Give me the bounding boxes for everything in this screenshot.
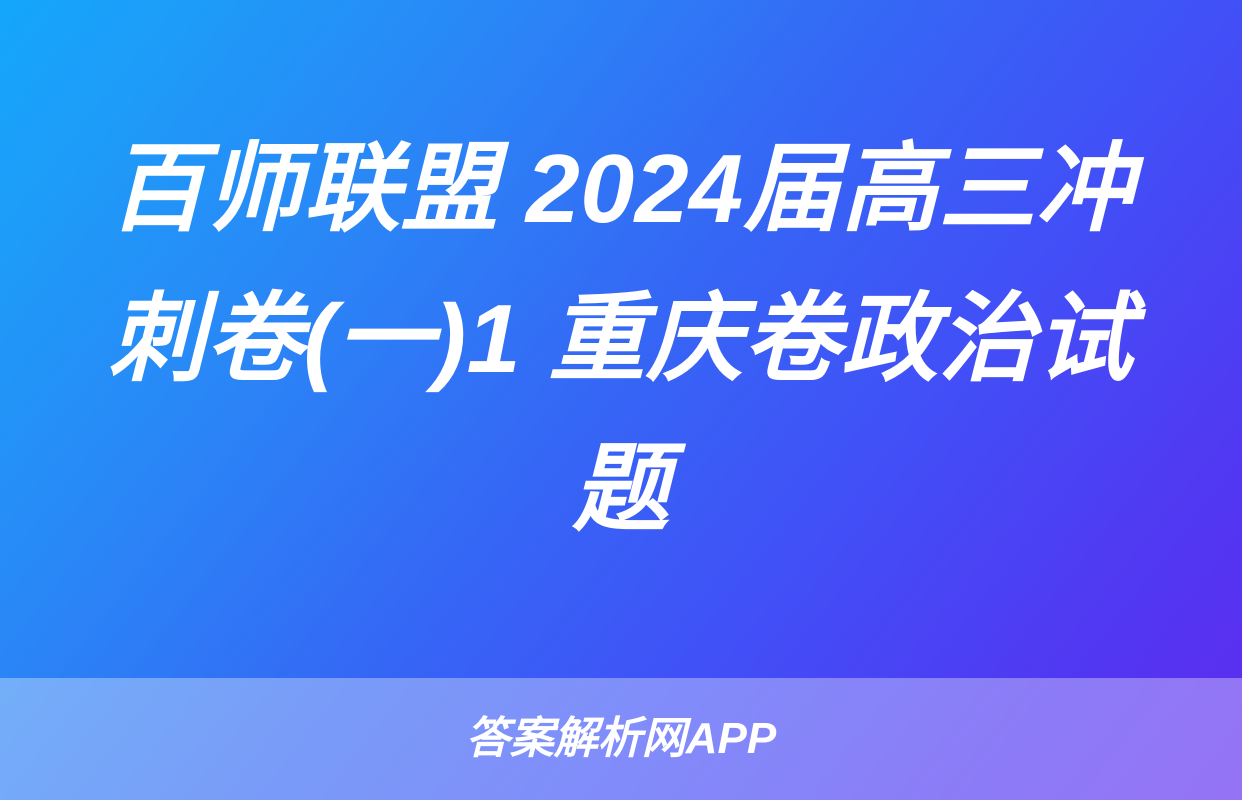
watermark-banner: 答案解析网APP xyxy=(0,678,1242,800)
title-area: 百师联盟 2024届高三冲刺卷(一)1 重庆卷政治试题 xyxy=(0,0,1242,678)
watermark-brand-label: 答案解析网APP xyxy=(466,717,776,761)
document-cover-card: 百师联盟 2024届高三冲刺卷(一)1 重庆卷政治试题 答案解析网APP xyxy=(0,0,1242,800)
page-title: 百师联盟 2024届高三冲刺卷(一)1 重庆卷政治试题 xyxy=(78,114,1164,564)
